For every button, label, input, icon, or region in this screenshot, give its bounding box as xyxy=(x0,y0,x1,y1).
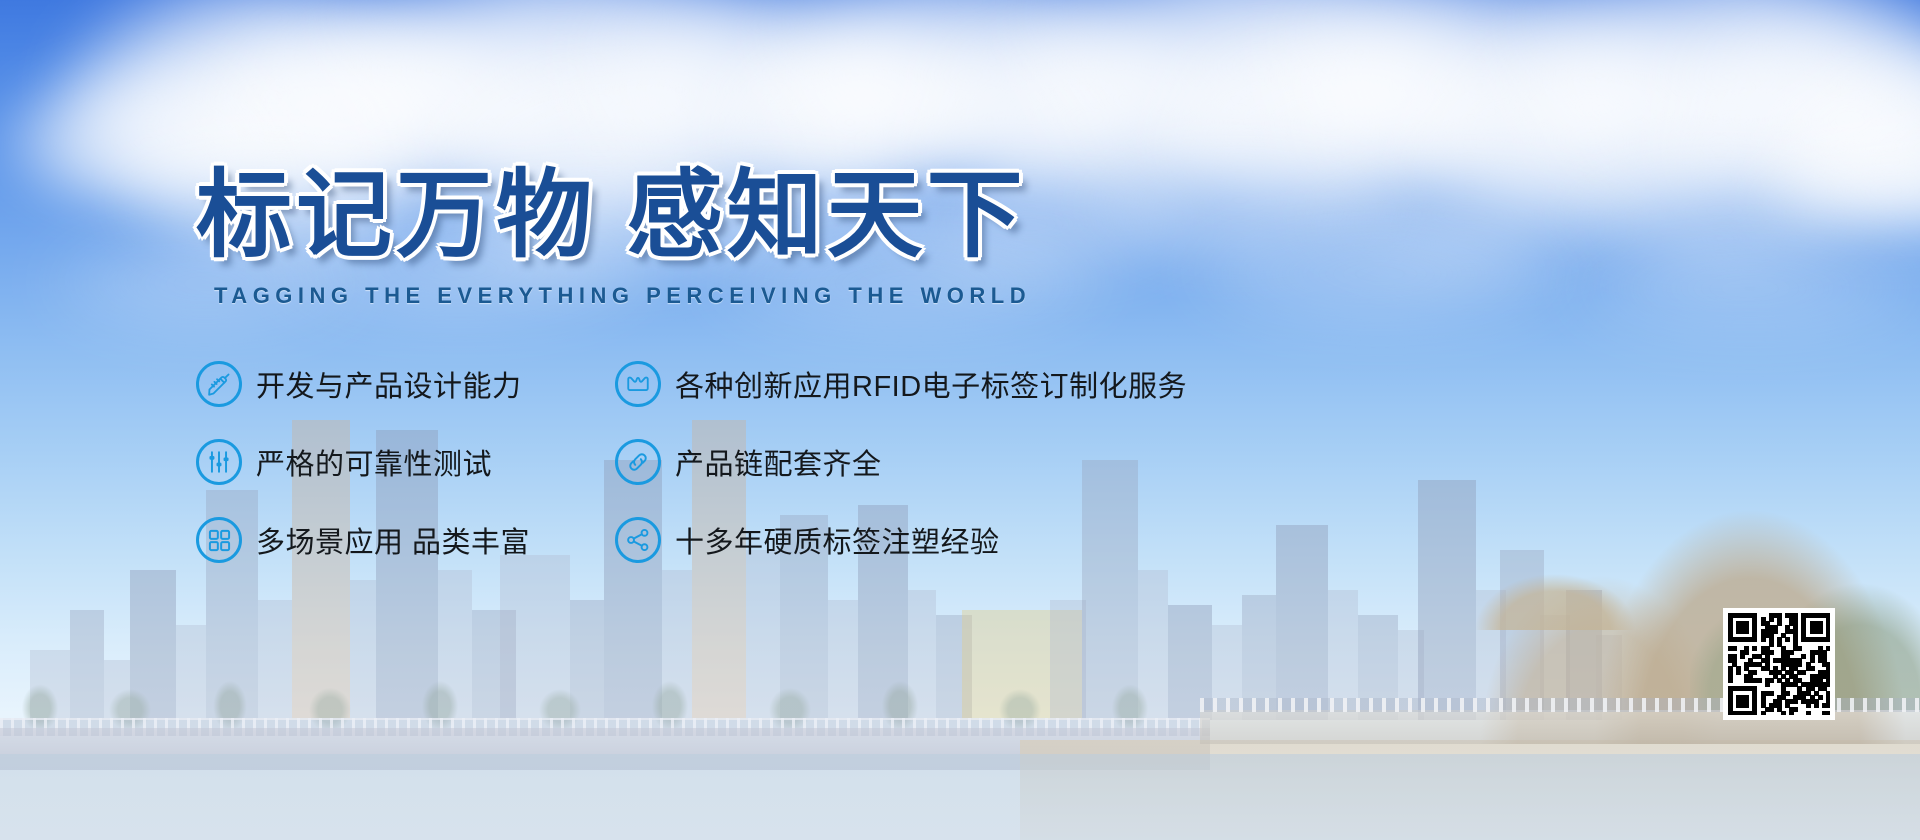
banner-headline: 标记万物 感知天下 xyxy=(196,166,1027,267)
share-network-icon xyxy=(615,517,661,563)
feature-label: 严格的可靠性测试 xyxy=(256,441,492,483)
sliders-icon xyxy=(196,439,242,485)
crown-icon xyxy=(615,361,661,407)
feature-item: 各种创新应用RFID电子标签订制化服务 xyxy=(615,345,1187,423)
feature-label: 开发与产品设计能力 xyxy=(256,363,522,405)
feature-item: 十多年硬质标签注塑经验 xyxy=(615,501,1187,579)
banner-content: 标记万物 感知天下 TAGGING THE EVERYTHING PERCEIV… xyxy=(0,0,1920,840)
qr-code[interactable] xyxy=(1723,608,1835,720)
feature-item: 严格的可靠性测试 xyxy=(196,423,530,501)
feature-column-left: 开发与产品设计能力 严格的可靠性测试 xyxy=(196,345,530,579)
feature-label: 各种创新应用RFID电子标签订制化服务 xyxy=(675,363,1187,405)
feature-label: 产品链配套齐全 xyxy=(675,441,882,483)
banner-subline: TAGGING THE EVERYTHING PERCEIVING THE WO… xyxy=(214,283,1031,309)
feature-label: 多场景应用 品类丰富 xyxy=(256,519,530,561)
feature-column-right: 各种创新应用RFID电子标签订制化服务 产品链配套齐全 xyxy=(615,345,1187,579)
feature-item: 多场景应用 品类丰富 xyxy=(196,501,530,579)
grid-squares-icon xyxy=(196,517,242,563)
feature-item: 产品链配套齐全 xyxy=(615,423,1187,501)
ruler-pencil-icon xyxy=(196,361,242,407)
chain-link-icon xyxy=(615,439,661,485)
feature-item: 开发与产品设计能力 xyxy=(196,345,530,423)
promo-banner: 标记万物 感知天下 TAGGING THE EVERYTHING PERCEIV… xyxy=(0,0,1920,840)
feature-label: 十多年硬质标签注塑经验 xyxy=(675,519,1000,561)
